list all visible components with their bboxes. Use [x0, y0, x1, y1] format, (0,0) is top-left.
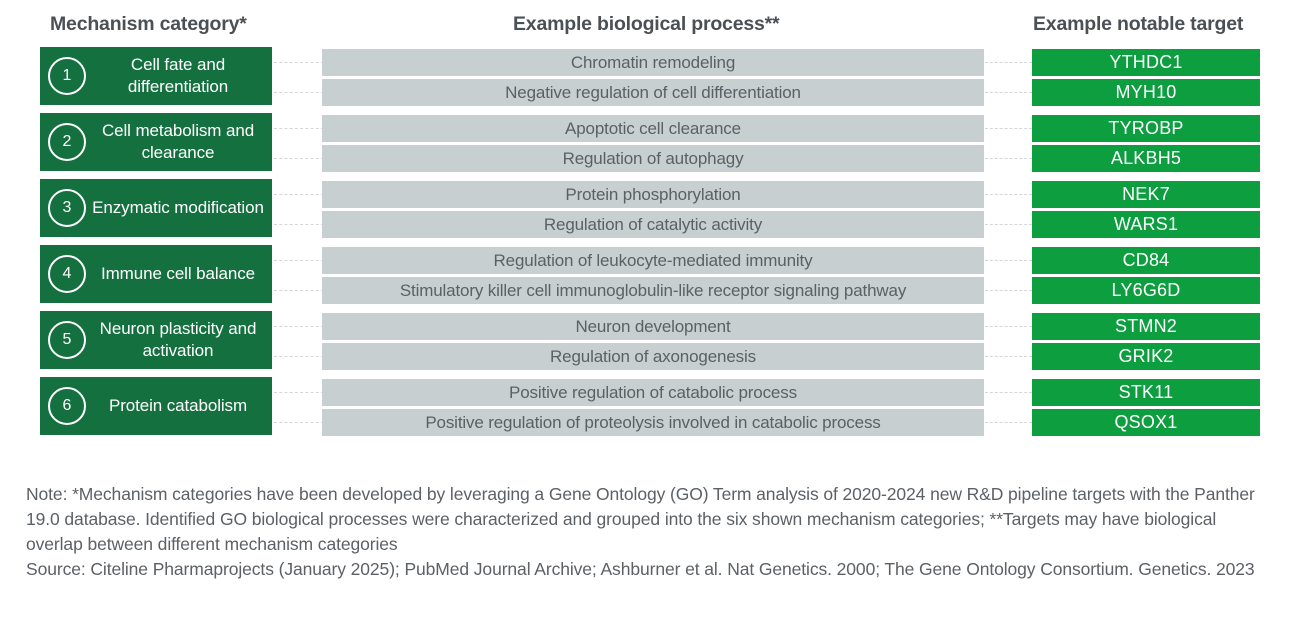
process-bar[interactable]: Apoptotic cell clearance	[322, 115, 984, 142]
process-bar[interactable]: Protein phosphorylation	[322, 181, 984, 208]
connector-dashed-right-top	[985, 128, 1032, 129]
connector-dashed-left-bottom	[274, 356, 324, 357]
category-label: Protein catabolism	[90, 395, 272, 417]
category-label: Cell fate and differentiation	[90, 54, 272, 98]
process-bar[interactable]: Negative regulation of cell differentiat…	[322, 79, 984, 106]
target-bar[interactable]: ALKBH5	[1032, 145, 1260, 172]
category-number-badge: 5	[48, 321, 86, 359]
connector-dashed-right-top	[985, 62, 1032, 63]
connector-dashed-right-top	[985, 194, 1032, 195]
connector-dashed-left-top	[274, 260, 324, 261]
target-bar[interactable]: CD84	[1032, 247, 1260, 274]
target-bar[interactable]: YTHDC1	[1032, 49, 1260, 76]
category-box-4[interactable]: 4Immune cell balance	[40, 245, 272, 303]
category-label: Cell metabolism and clearance	[90, 120, 272, 164]
connector-dashed-right-bottom	[985, 224, 1032, 225]
target-bar[interactable]: GRIK2	[1032, 343, 1260, 370]
category-number-badge: 3	[48, 189, 86, 227]
table-row: 4Immune cell balanceRegulation of leukoc…	[0, 245, 1300, 311]
target-bar[interactable]: TYROBP	[1032, 115, 1260, 142]
category-label: Immune cell balance	[90, 263, 272, 285]
column-headers: Mechanism category* Example biological p…	[0, 13, 1300, 43]
header-biological-process: Example biological process**	[513, 13, 779, 36]
footnote-note: Note: *Mechanism categories have been de…	[26, 482, 1274, 557]
connector-dashed-left-bottom	[274, 92, 324, 93]
category-box-6[interactable]: 6Protein catabolism	[40, 377, 272, 435]
connector-dashed-left-bottom	[274, 158, 324, 159]
category-box-5[interactable]: 5Neuron plasticity and activation	[40, 311, 272, 369]
connector-dashed-left-bottom	[274, 422, 324, 423]
connector-dashed-left-top	[274, 128, 324, 129]
connector-dashed-left-top	[274, 326, 324, 327]
connector-dashed-right-bottom	[985, 92, 1032, 93]
connector-dashed-right-bottom	[985, 290, 1032, 291]
table-body: 1Cell fate and differentiationChromatin …	[0, 47, 1300, 443]
connector-dashed-left-bottom	[274, 290, 324, 291]
process-bar[interactable]: Regulation of axonogenesis	[322, 343, 984, 370]
process-bar[interactable]: Positive regulation of catabolic process	[322, 379, 984, 406]
header-mechanism-category: Mechanism category*	[50, 13, 247, 36]
category-box-1[interactable]: 1Cell fate and differentiation	[40, 47, 272, 105]
connector-dashed-left-bottom	[274, 224, 324, 225]
connector-dashed-left-top	[274, 62, 324, 63]
connector-dashed-right-top	[985, 326, 1032, 327]
table-row: 6Protein catabolismPositive regulation o…	[0, 377, 1300, 443]
target-bar[interactable]: LY6G6D	[1032, 277, 1260, 304]
connector-dashed-right-bottom	[985, 158, 1032, 159]
table-row: 3Enzymatic modificationProtein phosphory…	[0, 179, 1300, 245]
target-bar[interactable]: STK11	[1032, 379, 1260, 406]
process-bar[interactable]: Stimulatory killer cell immunoglobulin-l…	[322, 277, 984, 304]
category-box-3[interactable]: 3Enzymatic modification	[40, 179, 272, 237]
mechanism-category-table: Mechanism category* Example biological p…	[0, 0, 1300, 637]
table-row: 5Neuron plasticity and activationNeuron …	[0, 311, 1300, 377]
category-number-badge: 2	[48, 123, 86, 161]
connector-dashed-left-top	[274, 194, 324, 195]
process-bar[interactable]: Regulation of autophagy	[322, 145, 984, 172]
target-bar[interactable]: NEK7	[1032, 181, 1260, 208]
category-label: Enzymatic modification	[90, 197, 272, 219]
footnote-block: Note: *Mechanism categories have been de…	[26, 482, 1274, 581]
target-bar[interactable]: QSOX1	[1032, 409, 1260, 436]
category-number-badge: 4	[48, 255, 86, 293]
connector-dashed-right-bottom	[985, 422, 1032, 423]
connector-dashed-left-top	[274, 392, 324, 393]
process-bar[interactable]: Chromatin remodeling	[322, 49, 984, 76]
process-bar[interactable]: Neuron development	[322, 313, 984, 340]
connector-dashed-right-bottom	[985, 356, 1032, 357]
category-box-2[interactable]: 2Cell metabolism and clearance	[40, 113, 272, 171]
process-bar[interactable]: Positive regulation of proteolysis invol…	[322, 409, 984, 436]
target-bar[interactable]: STMN2	[1032, 313, 1260, 340]
category-label: Neuron plasticity and activation	[90, 318, 272, 362]
connector-dashed-right-top	[985, 392, 1032, 393]
header-notable-target: Example notable target	[1033, 13, 1243, 36]
target-bar[interactable]: WARS1	[1032, 211, 1260, 238]
table-row: 2Cell metabolism and clearanceApoptotic …	[0, 113, 1300, 179]
process-bar[interactable]: Regulation of leukocyte-mediated immunit…	[322, 247, 984, 274]
target-bar[interactable]: MYH10	[1032, 79, 1260, 106]
category-number-badge: 1	[48, 57, 86, 95]
footnote-source: Source: Citeline Pharmaprojects (January…	[26, 557, 1274, 582]
table-row: 1Cell fate and differentiationChromatin …	[0, 47, 1300, 113]
process-bar[interactable]: Regulation of catalytic activity	[322, 211, 984, 238]
category-number-badge: 6	[48, 387, 86, 425]
connector-dashed-right-top	[985, 260, 1032, 261]
